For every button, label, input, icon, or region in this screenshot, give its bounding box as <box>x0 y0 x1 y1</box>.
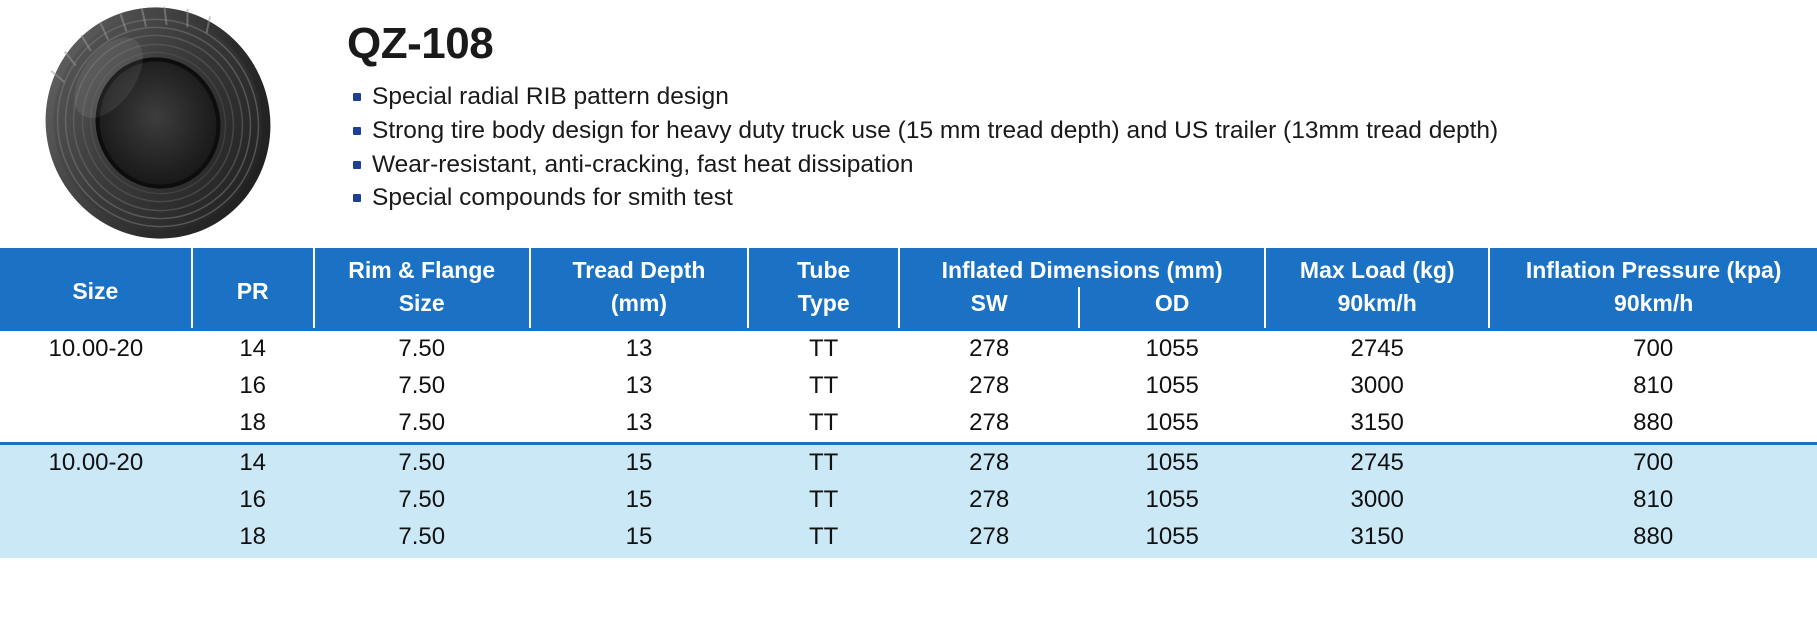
cell-rim: 7.50 <box>314 519 530 558</box>
cell-od: 1055 <box>1079 519 1265 558</box>
cell-pr: 16 <box>192 368 314 405</box>
column-header-max-load: Max Load (kg) <box>1265 248 1489 287</box>
column-header-tread-depth: Tread Depth <box>530 248 748 287</box>
cell-pressure: 880 <box>1489 405 1817 444</box>
table-header-row-top: Size PR Rim & Flange Tread Depth Tube In… <box>0 248 1817 287</box>
column-header-pr: PR <box>192 248 314 330</box>
feature-text: Special radial RIB pattern design <box>372 83 729 110</box>
cell-pr: 18 <box>192 519 314 558</box>
column-header-rim-flange: Rim & Flange <box>314 248 530 287</box>
cell-sw: 278 <box>899 368 1079 405</box>
table-row: 18 7.50 15 TT 278 1055 3150 880 <box>0 519 1817 558</box>
list-item: Special radial RIB pattern design <box>345 80 1805 114</box>
tire-product-image <box>8 4 308 242</box>
column-header-inflated-dimensions: Inflated Dimensions (mm) <box>899 248 1265 287</box>
table-body: 10.00-20 14 7.50 13 TT 278 1055 2745 700… <box>0 330 1817 559</box>
cell-load: 3150 <box>1265 519 1489 558</box>
cell-rim: 7.50 <box>314 405 530 444</box>
column-subheader-tread-mm: (mm) <box>530 287 748 330</box>
cell-tube: TT <box>748 519 899 558</box>
cell-tube: TT <box>748 330 899 369</box>
cell-load: 2745 <box>1265 444 1489 483</box>
cell-size <box>0 405 192 444</box>
cell-rim: 7.50 <box>314 368 530 405</box>
cell-size: 10.00-20 <box>0 444 192 483</box>
column-header-inflation-pressure: Inflation Pressure (kpa) <box>1489 248 1817 287</box>
cell-od: 1055 <box>1079 330 1265 369</box>
product-info: QZ-108 Special radial RIB pattern design… <box>345 22 1805 215</box>
cell-tube: TT <box>748 444 899 483</box>
page-title: QZ-108 <box>347 22 1805 66</box>
bullet-icon <box>353 194 361 202</box>
bullet-icon <box>353 161 361 169</box>
cell-tread: 13 <box>530 368 748 405</box>
column-subheader-pressure-speed: 90km/h <box>1489 287 1817 330</box>
table-row: 16 7.50 15 TT 278 1055 3000 810 <box>0 482 1817 519</box>
cell-sw: 278 <box>899 519 1079 558</box>
column-subheader-sw: SW <box>899 287 1079 330</box>
cell-sw: 278 <box>899 330 1079 369</box>
list-item: Wear-resistant, anti-cracking, fast heat… <box>345 148 1805 182</box>
cell-tube: TT <box>748 405 899 444</box>
list-item: Strong tire body design for heavy duty t… <box>345 114 1805 148</box>
cell-tube: TT <box>748 368 899 405</box>
column-subheader-max-load-speed: 90km/h <box>1265 287 1489 330</box>
list-item: Special compounds for smith test <box>345 181 1805 215</box>
feature-text: Special compounds for smith test <box>372 184 733 211</box>
table-row: 10.00-20 14 7.50 15 TT 278 1055 2745 700 <box>0 444 1817 483</box>
tire-illustration <box>8 4 308 242</box>
table-row: 16 7.50 13 TT 278 1055 3000 810 <box>0 368 1817 405</box>
cell-tread: 13 <box>530 330 748 369</box>
cell-od: 1055 <box>1079 368 1265 405</box>
cell-size <box>0 368 192 405</box>
cell-pressure: 700 <box>1489 444 1817 483</box>
product-header-section: QZ-108 Special radial RIB pattern design… <box>0 0 1817 248</box>
specification-table: Size PR Rim & Flange Tread Depth Tube In… <box>0 248 1817 558</box>
cell-tread: 15 <box>530 444 748 483</box>
feature-text: Strong tire body design for heavy duty t… <box>372 117 1498 144</box>
cell-pr: 14 <box>192 330 314 369</box>
bullet-icon <box>353 93 361 101</box>
cell-size <box>0 482 192 519</box>
column-subheader-rim-size: Size <box>314 287 530 330</box>
cell-load: 3000 <box>1265 482 1489 519</box>
cell-sw: 278 <box>899 482 1079 519</box>
cell-size <box>0 519 192 558</box>
cell-load: 3150 <box>1265 405 1489 444</box>
cell-tread: 15 <box>530 482 748 519</box>
cell-load: 3000 <box>1265 368 1489 405</box>
cell-size: 10.00-20 <box>0 330 192 369</box>
cell-sw: 278 <box>899 444 1079 483</box>
feature-list: Special radial RIB pattern design Strong… <box>345 80 1805 215</box>
cell-pressure: 810 <box>1489 482 1817 519</box>
cell-tread: 13 <box>530 405 748 444</box>
cell-rim: 7.50 <box>314 482 530 519</box>
cell-pr: 18 <box>192 405 314 444</box>
bullet-icon <box>353 127 361 135</box>
cell-tread: 15 <box>530 519 748 558</box>
cell-pr: 14 <box>192 444 314 483</box>
cell-sw: 278 <box>899 405 1079 444</box>
column-subheader-od: OD <box>1079 287 1265 330</box>
table-row: 10.00-20 14 7.50 13 TT 278 1055 2745 700 <box>0 330 1817 369</box>
cell-pressure: 880 <box>1489 519 1817 558</box>
table-row: 18 7.50 13 TT 278 1055 3150 880 <box>0 405 1817 444</box>
cell-pressure: 810 <box>1489 368 1817 405</box>
cell-od: 1055 <box>1079 482 1265 519</box>
column-header-size: Size <box>0 248 192 330</box>
cell-pr: 16 <box>192 482 314 519</box>
column-subheader-tube-type: Type <box>748 287 899 330</box>
cell-rim: 7.50 <box>314 444 530 483</box>
cell-pressure: 700 <box>1489 330 1817 369</box>
feature-text: Wear-resistant, anti-cracking, fast heat… <box>372 151 914 178</box>
cell-tube: TT <box>748 482 899 519</box>
cell-load: 2745 <box>1265 330 1489 369</box>
column-header-tube: Tube <box>748 248 899 287</box>
cell-od: 1055 <box>1079 405 1265 444</box>
cell-od: 1055 <box>1079 444 1265 483</box>
cell-rim: 7.50 <box>314 330 530 369</box>
table-header: Size PR Rim & Flange Tread Depth Tube In… <box>0 248 1817 330</box>
